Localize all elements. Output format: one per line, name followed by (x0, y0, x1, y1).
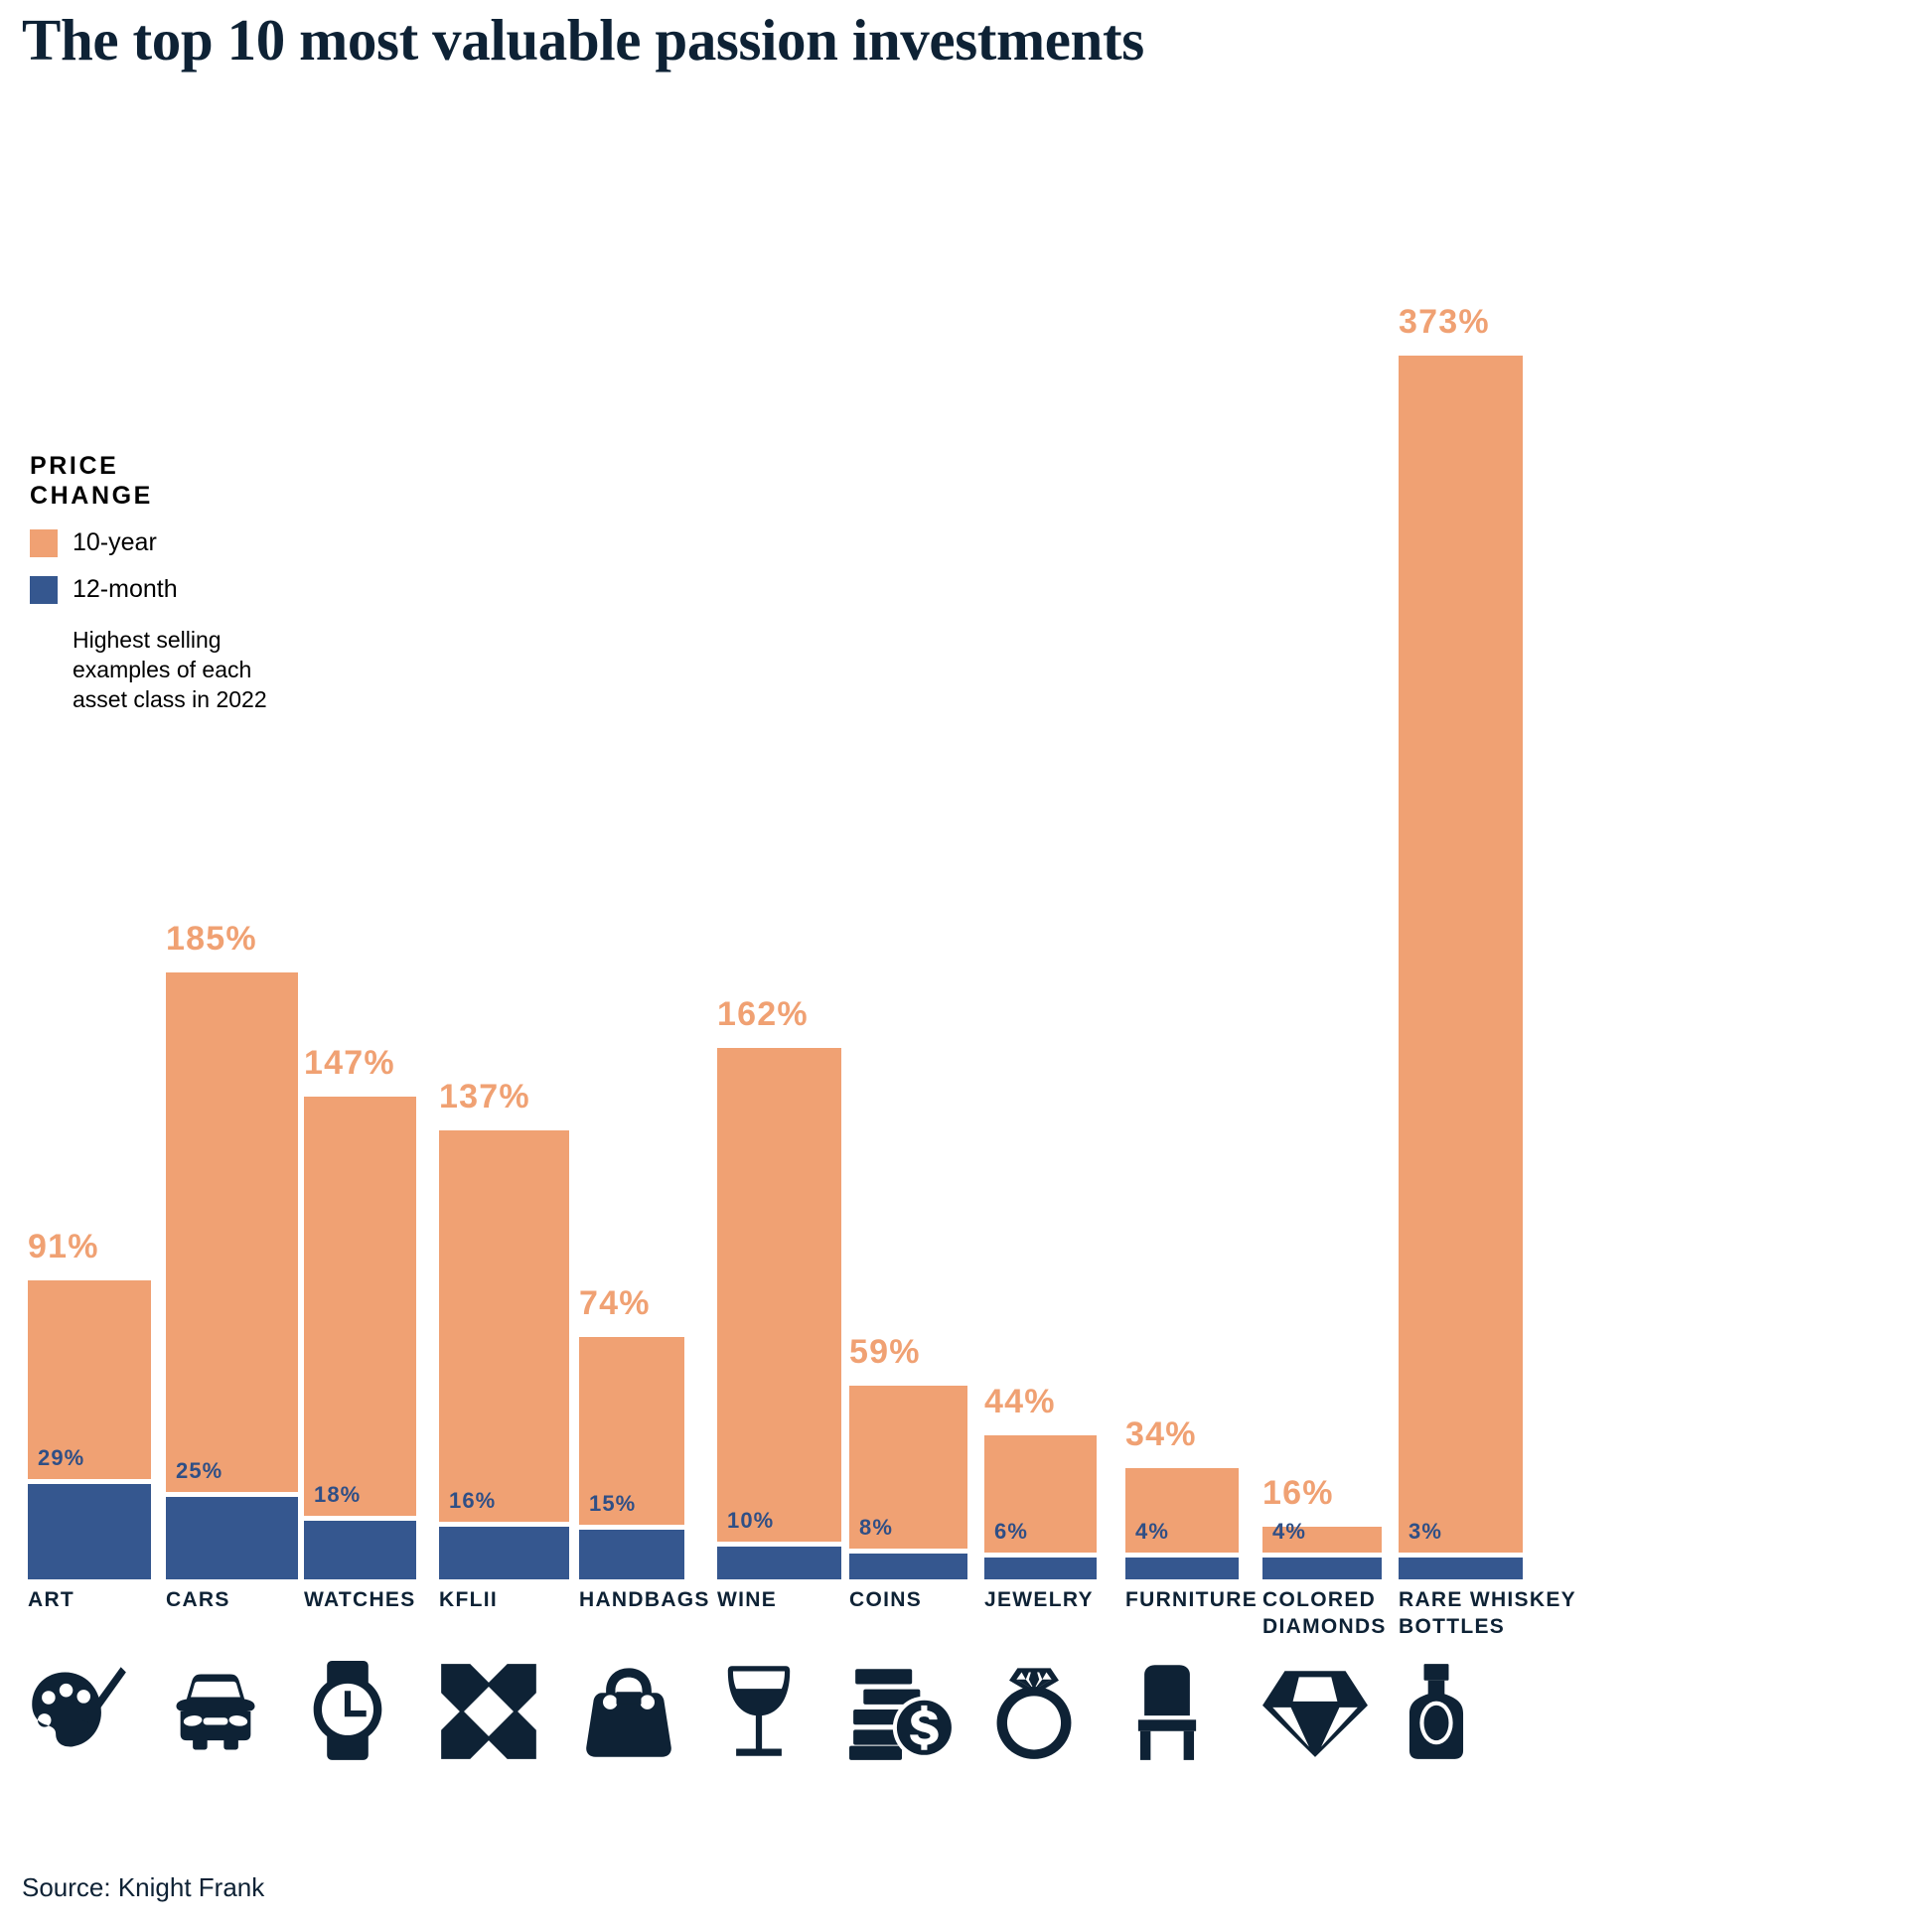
gemstone-icon (1260, 1657, 1370, 1766)
bar-column-cars[interactable]: 185%25% (166, 228, 298, 1579)
bar-column-handbags[interactable]: 74%15% (579, 228, 684, 1579)
kflii-diamond-x-icon (437, 1657, 546, 1766)
bar-value-label-10-year-furniture: 34% (1125, 1415, 1197, 1454)
bar-segment-10-year-watches[interactable] (304, 1097, 416, 1515)
handbag-icon (577, 1657, 686, 1766)
bar-column-whiskey[interactable]: 373%3% (1399, 228, 1523, 1579)
bar-column-watches[interactable]: 147%18% (304, 228, 416, 1579)
bar-value-label-10-year-coins: 59% (849, 1333, 921, 1372)
bar-segment-10-year-whiskey[interactable] (1399, 356, 1523, 1553)
bar-segment-12-month-art[interactable] (28, 1484, 151, 1579)
bar-chart-plot-area: 91%29%185%25%147%18%137%16%74%15%162%10%… (0, 228, 1927, 1579)
bar-segment-12-month-watches[interactable] (304, 1521, 416, 1579)
bar-segment-10-year-cars[interactable] (166, 972, 298, 1492)
diamond-ring-icon (982, 1657, 1092, 1766)
chair-icon (1123, 1657, 1233, 1766)
bar-column-coins[interactable]: 59%8% (849, 228, 967, 1579)
coins-dollar-icon (847, 1657, 957, 1766)
bar-stack-coins (849, 1386, 967, 1579)
bar-segment-12-month-jewelry[interactable] (984, 1558, 1097, 1579)
whiskey-bottle-icon (1397, 1657, 1506, 1766)
page-title: The top 10 most valuable passion investm… (22, 6, 1144, 74)
bar-segment-12-month-furniture[interactable] (1125, 1558, 1239, 1579)
bar-segment-12-month-kflii[interactable] (439, 1527, 569, 1579)
bar-value-label-12-month-art: 29% (38, 1445, 84, 1471)
wine-glass-icon (715, 1657, 824, 1766)
bar-value-label-10-year-whiskey: 373% (1399, 303, 1490, 342)
bar-column-furniture[interactable]: 34%4% (1125, 228, 1239, 1579)
watch-icon (302, 1657, 411, 1766)
infographic-root: The top 10 most valuable passion investm… (0, 0, 1927, 1932)
bar-value-label-12-month-wine: 10% (727, 1508, 774, 1534)
bar-column-diamonds[interactable]: 16%4% (1262, 228, 1382, 1579)
bar-value-label-10-year-art: 91% (28, 1228, 99, 1266)
bar-value-label-12-month-diamonds: 4% (1272, 1519, 1306, 1545)
bar-stack-cars (166, 972, 298, 1579)
bar-column-kflii[interactable]: 137%16% (439, 228, 569, 1579)
bar-segment-12-month-cars[interactable] (166, 1497, 298, 1579)
bar-stack-art (28, 1280, 151, 1579)
bar-value-label-10-year-diamonds: 16% (1262, 1474, 1334, 1513)
bar-stack-whiskey (1399, 356, 1523, 1579)
bar-value-label-10-year-jewelry: 44% (984, 1383, 1056, 1421)
bar-stack-handbags (579, 1337, 684, 1579)
bar-segment-12-month-coins[interactable] (849, 1554, 967, 1579)
bar-value-label-12-month-watches: 18% (314, 1482, 361, 1508)
car-icon (164, 1657, 273, 1766)
bar-value-label-12-month-jewelry: 6% (994, 1519, 1028, 1545)
bar-value-label-12-month-kflii: 16% (449, 1488, 496, 1514)
bar-stack-jewelry (984, 1435, 1097, 1579)
bar-segment-12-month-whiskey[interactable] (1399, 1558, 1523, 1579)
bar-column-art[interactable]: 91%29% (28, 228, 151, 1579)
bar-value-label-10-year-wine: 162% (717, 995, 809, 1034)
bar-value-label-12-month-whiskey: 3% (1408, 1519, 1442, 1545)
source-caption: Source: Knight Frank (22, 1872, 264, 1903)
bar-column-wine[interactable]: 162%10% (717, 228, 841, 1579)
bar-column-jewelry[interactable]: 44%6% (984, 228, 1097, 1579)
bar-stack-wine (717, 1048, 841, 1579)
category-label-whiskey: RARE WHISKEY BOTTLES (1399, 1587, 1612, 1641)
bar-segment-12-month-wine[interactable] (717, 1547, 841, 1579)
bar-segment-12-month-handbags[interactable] (579, 1530, 684, 1579)
bar-value-label-12-month-furniture: 4% (1135, 1519, 1169, 1545)
bar-value-label-10-year-cars: 185% (166, 920, 257, 959)
bar-value-label-10-year-watches: 147% (304, 1044, 395, 1083)
palette-and-brush-icon (26, 1657, 135, 1766)
bar-value-label-12-month-coins: 8% (859, 1515, 893, 1541)
bar-segment-12-month-diamonds[interactable] (1262, 1558, 1382, 1579)
bar-segment-10-year-kflii[interactable] (439, 1130, 569, 1523)
category-icon-row (0, 1657, 1927, 1776)
category-label-row: ARTCARSWATCHESKFLIIHANDBAGSWINECOINSJEWE… (0, 1587, 1927, 1657)
bar-value-label-10-year-kflii: 137% (439, 1078, 530, 1116)
bar-value-label-10-year-handbags: 74% (579, 1284, 651, 1323)
bar-segment-10-year-wine[interactable] (717, 1048, 841, 1542)
bar-value-label-12-month-handbags: 15% (589, 1491, 636, 1517)
bar-value-label-12-month-cars: 25% (176, 1458, 222, 1484)
